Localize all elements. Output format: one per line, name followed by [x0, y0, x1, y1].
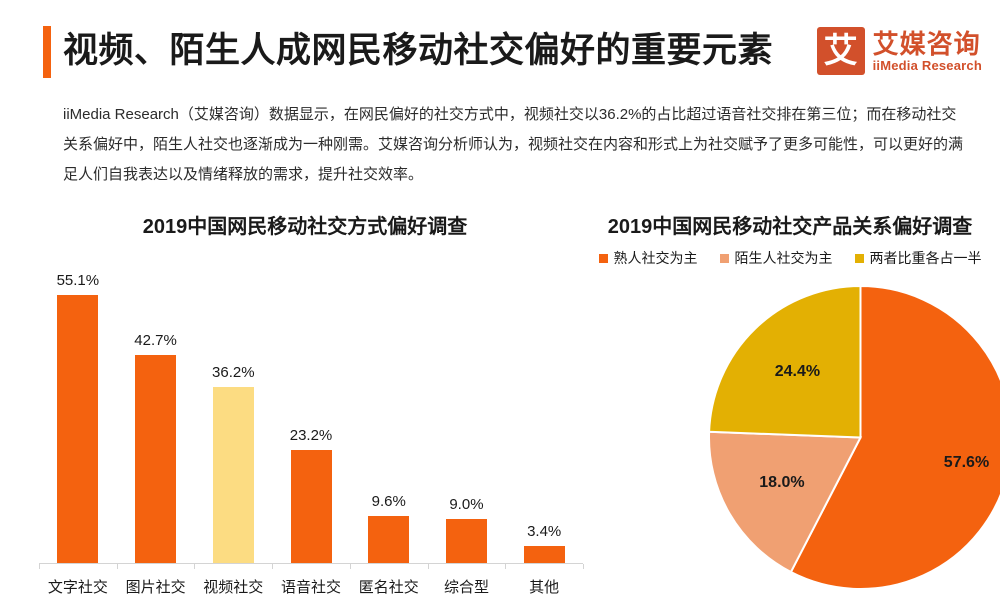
legend-label: 两者比重各占一半	[870, 248, 982, 268]
bar-value-label: 23.2%	[290, 427, 333, 444]
legend-swatch-icon	[855, 254, 864, 263]
bar-column: 55.1%	[39, 263, 117, 563]
bar-category-label: 综合型	[428, 572, 506, 604]
bar-rect	[135, 355, 176, 563]
page-title: 视频、陌生人成网民移动社交偏好的重要元素	[63, 25, 773, 77]
bar-rect	[213, 387, 254, 563]
bar-rect	[368, 516, 409, 563]
logo-mark-icon: 艾	[817, 27, 865, 75]
bar-value-label: 9.6%	[372, 493, 406, 510]
brand-logo: 艾 艾媒咨询 iiMedia Research	[817, 26, 982, 76]
legend-item[interactable]: 两者比重各占一半	[855, 248, 982, 268]
bar-value-label: 42.7%	[134, 332, 177, 349]
pie-slice-label: 18.0%	[759, 474, 804, 492]
bar-series: 55.1%42.7%36.2%23.2%9.6%9.0%3.4%	[39, 263, 583, 563]
legend-label: 熟人社交为主	[614, 248, 698, 268]
bar-category-label: 图片社交	[117, 572, 195, 604]
infographic-page: 视频、陌生人成网民移动社交偏好的重要元素 艾 艾媒咨询 iiMedia Rese…	[0, 0, 1000, 606]
charts-container: 2019中国网民移动社交方式偏好调查 55.1%42.7%36.2%23.2%9…	[0, 198, 1000, 606]
bar-value-label: 55.1%	[57, 272, 100, 289]
legend-label: 陌生人社交为主	[735, 248, 833, 268]
pie-chart-legend: 熟人社交为主陌生人社交为主两者比重各占一半	[580, 248, 1000, 268]
pie-slice-label: 24.4%	[775, 363, 820, 381]
pie-chart-plot: 57.6%18.0%24.4%	[708, 285, 1000, 590]
pie-chart-svg	[708, 285, 1000, 590]
logo-name-en: iiMedia Research	[873, 58, 982, 73]
bar-rect	[524, 546, 565, 563]
pie-slice[interactable]	[709, 286, 860, 438]
bar-category-label: 匿名社交	[350, 572, 428, 604]
bar-column: 36.2%	[194, 263, 272, 563]
axis-tick	[39, 564, 40, 569]
axis-tick	[428, 564, 429, 569]
legend-swatch-icon	[720, 254, 729, 263]
bar-chart-panel: 2019中国网民移动社交方式偏好调查 55.1%42.7%36.2%23.2%9…	[20, 198, 590, 606]
bar-chart-plot: 55.1%42.7%36.2%23.2%9.6%9.0%3.4% 文字社交图片社…	[20, 256, 590, 606]
axis-tick	[505, 564, 506, 569]
bar-column: 23.2%	[272, 263, 350, 563]
bar-value-label: 3.4%	[527, 523, 561, 540]
bar-category-label: 视频社交	[194, 572, 272, 604]
bar-rect	[291, 450, 332, 563]
bar-category-label: 语音社交	[272, 572, 350, 604]
pie-chart-title: 2019中国网民移动社交产品关系偏好调查	[580, 210, 1000, 239]
axis-tick	[117, 564, 118, 569]
bar-chart-category-labels: 文字社交图片社交视频社交语音社交匿名社交综合型其他	[39, 572, 583, 604]
bar-value-label: 36.2%	[212, 364, 255, 381]
bar-category-label: 其他	[505, 572, 583, 604]
legend-item[interactable]: 熟人社交为主	[599, 248, 698, 268]
pie-chart-panel: 2019中国网民移动社交产品关系偏好调查 熟人社交为主陌生人社交为主两者比重各占…	[580, 198, 1000, 606]
bar-chart-axis-ticks	[39, 564, 583, 569]
bar-rect	[446, 519, 487, 563]
bar-rect	[57, 295, 98, 563]
axis-tick	[350, 564, 351, 569]
page-header: 视频、陌生人成网民移动社交偏好的重要元素 艾 艾媒咨询 iiMedia Rese…	[0, 0, 1000, 96]
bar-category-label: 文字社交	[39, 572, 117, 604]
bar-column: 9.6%	[350, 263, 428, 563]
bar-value-label: 9.0%	[449, 496, 483, 513]
pie-slice-label: 57.6%	[944, 454, 989, 472]
legend-item[interactable]: 陌生人社交为主	[720, 248, 833, 268]
bar-column: 9.0%	[428, 263, 506, 563]
bar-column: 42.7%	[117, 263, 195, 563]
logo-name-cn: 艾媒咨询	[873, 30, 982, 58]
bar-column: 3.4%	[505, 263, 583, 563]
axis-tick	[272, 564, 273, 569]
title-accent-bar	[43, 26, 51, 78]
body-paragraph: iiMedia Research（艾媒咨询）数据显示，在网民偏好的社交方式中，视…	[63, 100, 968, 190]
legend-swatch-icon	[599, 254, 608, 263]
logo-text: 艾媒咨询 iiMedia Research	[873, 30, 982, 73]
bar-chart-title: 2019中国网民移动社交方式偏好调查	[20, 210, 590, 239]
axis-tick	[194, 564, 195, 569]
